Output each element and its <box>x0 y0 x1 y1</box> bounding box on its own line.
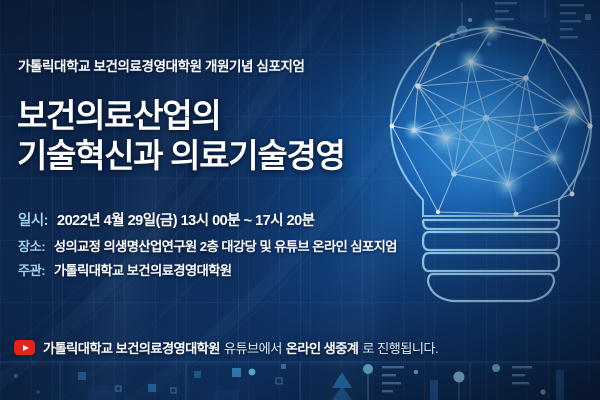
poster-title-line1: 보건의료산업의 <box>17 97 220 134</box>
footer-strong-1: 가톨릭대학교 보건의료경영대학원 <box>43 341 220 356</box>
info-row-host: 주관: 가톨릭대학교 보건의료경영대학원 <box>18 264 397 279</box>
info-value-venue: 성의교정 의생명산업연구원 2층 대강당 및 유튜브 온라인 심포지엄 <box>54 239 397 254</box>
network-lightbulb-graphic <box>376 8 600 338</box>
footer-normal-2: 로 진행됩니다. <box>362 341 438 356</box>
youtube-play-icon[interactable] <box>14 340 35 355</box>
symposium-poster: 가톨릭대학교 보건의료경영대학원 개원기념 심포지엄 보건의료산업의 기술혁신과… <box>0 0 600 400</box>
poster-kicker: 가톨릭대학교 보건의료경영대학원 개원기념 심포지엄 <box>18 55 305 75</box>
bulb-glow <box>398 48 588 238</box>
poster-title-line2: 기술혁신과 의료기술경영 <box>17 136 345 176</box>
footer-normal-1: 유튜브에서 <box>224 341 282 356</box>
poster-footer: 가톨릭대학교 보건의료경영대학원유튜브에서온라인 생중계로 진행됩니다. <box>14 338 438 357</box>
info-value-host: 가톨릭대학교 보건의료경영대학원 <box>54 263 232 278</box>
info-row-datetime: 일시: 2022년 4월 29일(금) 13시 00분 ~ 17시 20분 <box>18 214 397 230</box>
footer-text: 가톨릭대학교 보건의료경영대학원유튜브에서온라인 생중계로 진행됩니다. <box>43 338 438 357</box>
info-label-venue: 장소: <box>18 239 45 254</box>
info-row-venue: 장소: 성의교정 의생명산업연구원 2층 대강당 및 유튜브 온라인 심포지엄 <box>18 240 397 255</box>
poster-title: 보건의료산업의 기술혁신과 의료기술경영 <box>17 96 345 177</box>
info-value-datetime: 2022년 4월 29일(금) 13시 00분 ~ 17시 20분 <box>57 213 315 229</box>
poster-info-block: 일시: 2022년 4월 29일(금) 13시 00분 ~ 17시 20분 장소… <box>18 214 397 289</box>
info-label-host: 주관: <box>18 263 45 278</box>
footer-strong-2: 온라인 생중계 <box>286 341 359 356</box>
info-label-datetime: 일시: <box>18 213 48 229</box>
play-triangle-shape <box>23 345 29 351</box>
